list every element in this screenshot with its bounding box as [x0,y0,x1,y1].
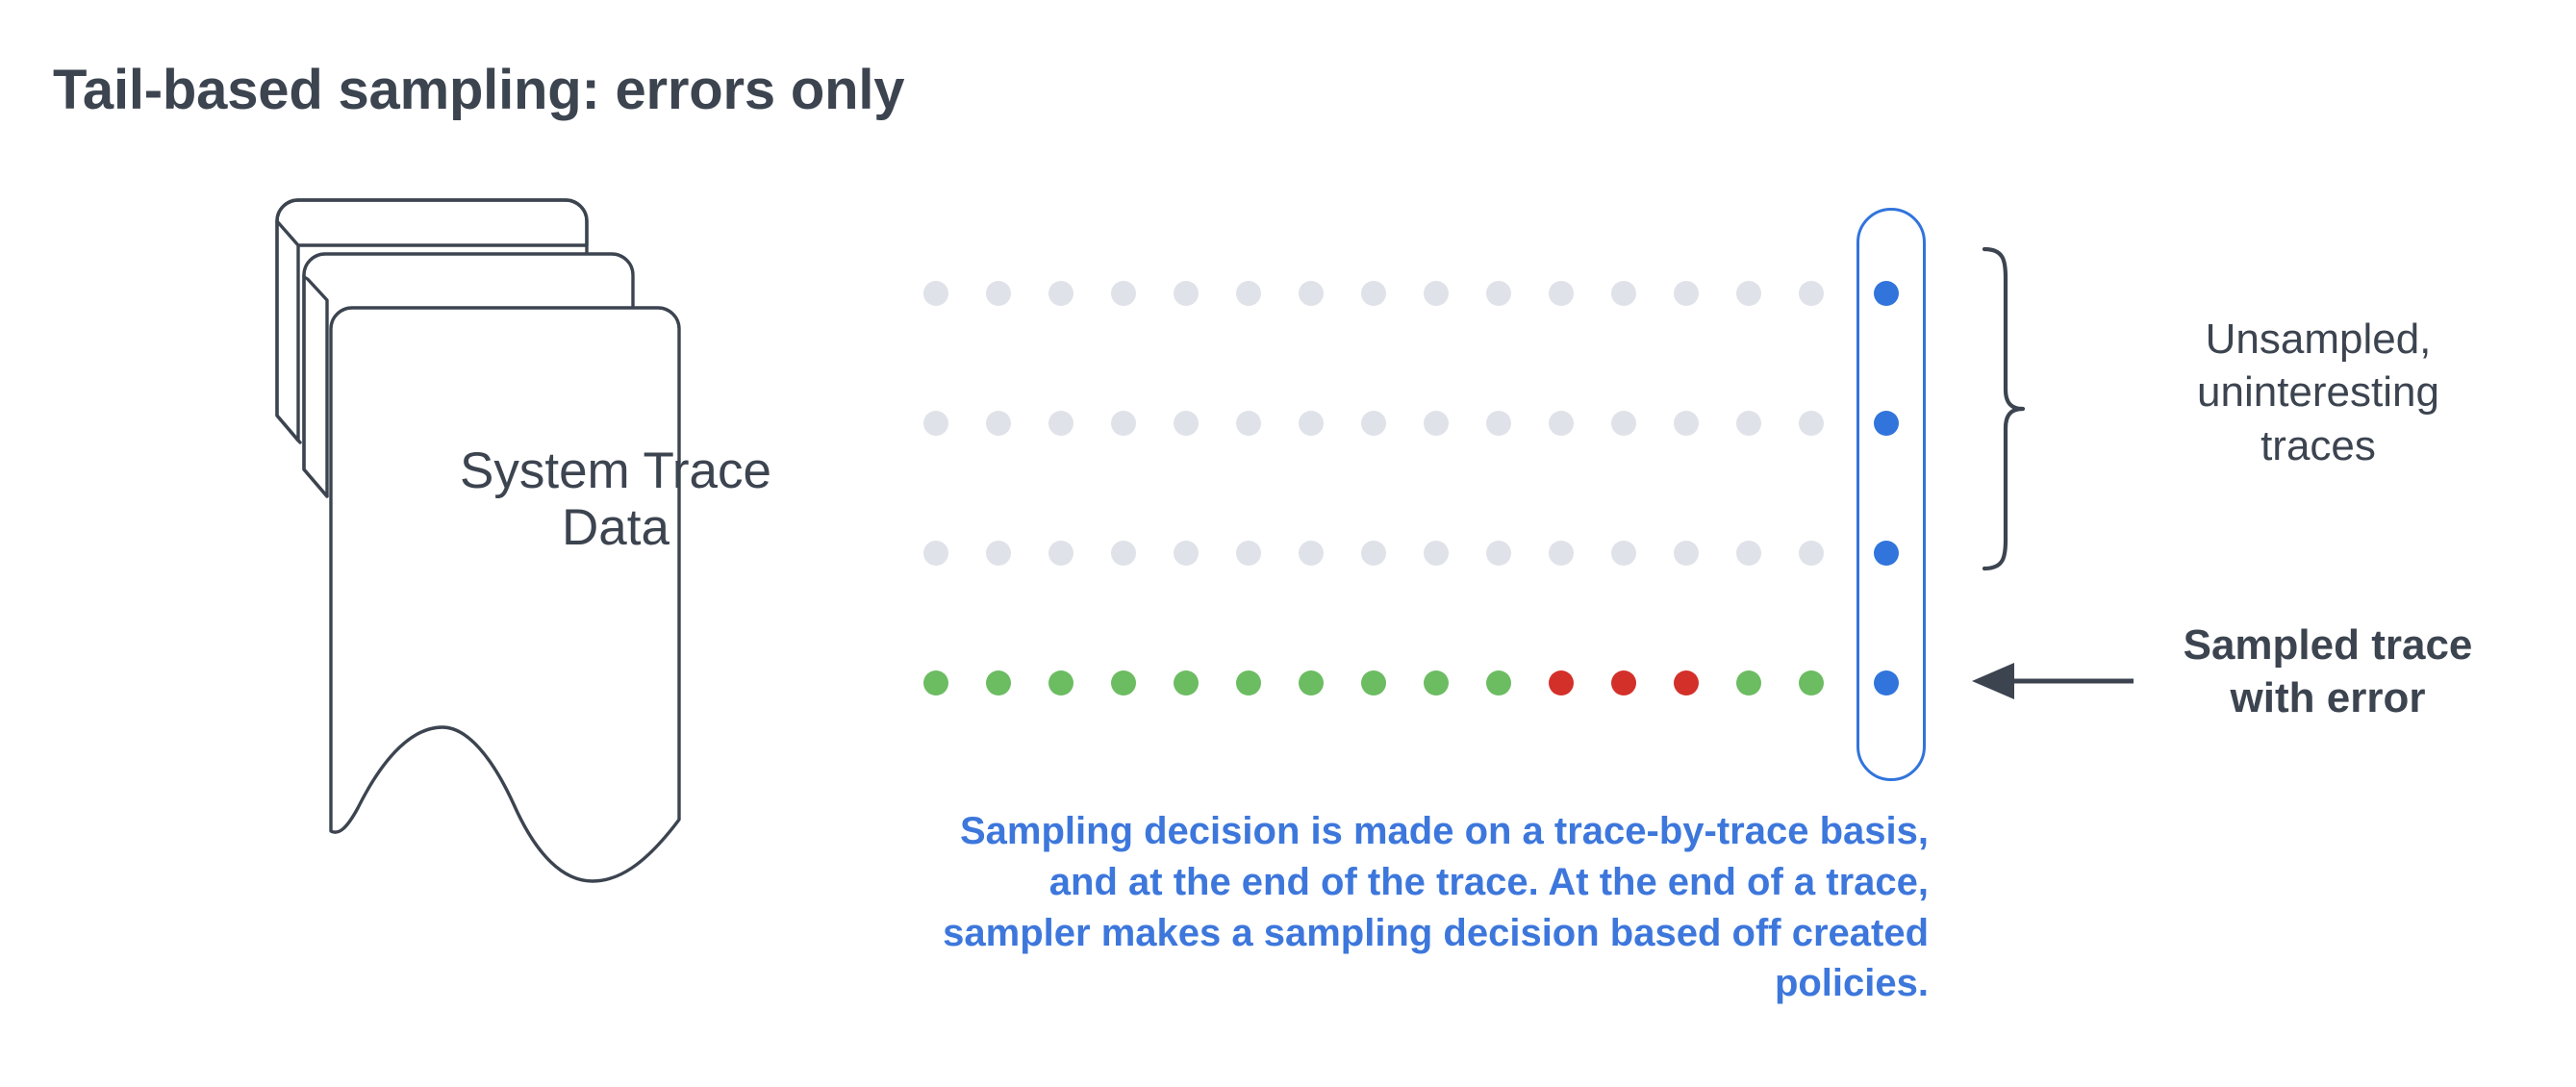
span-dot-idle [1799,541,1824,566]
sampled-arrow-group [1968,659,2141,703]
span-dot-idle [1361,281,1386,306]
span-dot-idle [1486,411,1511,436]
span-dot-idle [1549,281,1574,306]
unsampled-traces-label: Unsampled, uninteresting traces [2155,313,2482,472]
span-dot-idle [986,541,1011,566]
span-dot-idle [1361,411,1386,436]
span-dot-idle [1174,411,1199,436]
span-dot-idle [1611,411,1636,436]
span-dot-error [1674,670,1699,695]
span-dot-idle [1674,281,1699,306]
trace-row-4-error [923,670,1899,695]
left-arrow-icon [1968,659,2141,703]
trace-row-1 [923,281,1899,306]
trace-row-3 [923,541,1899,566]
span-dot-idle [1549,411,1574,436]
page-title: Tail-based sampling: errors only [53,58,904,122]
span-dot-ok [1048,670,1073,695]
span-dot-idle [1048,541,1073,566]
span-dot-idle [923,541,948,566]
span-dot-ok [1299,670,1324,695]
span-dot-idle [1361,541,1386,566]
span-dot-idle [1611,281,1636,306]
unsampled-brace-group [1977,245,2034,572]
diagram-canvas: Tail-based sampling: errors only System … [0,0,2576,1087]
span-dot-idle [1674,541,1699,566]
span-dot-idle [1799,411,1824,436]
span-dot-ok [1361,670,1386,695]
span-dot-ok [1111,670,1136,695]
sampling-decision-boundary [1856,208,1926,781]
span-dot-ok [1424,670,1449,695]
system-trace-data-label: System Trace Data [346,442,885,557]
span-dot-ok [1486,670,1511,695]
document-sheet-front [331,308,679,881]
sampling-decision-caption: Sampling decision is made on a trace-by-… [923,806,1929,1009]
document-sheet-middle-edge [304,275,327,496]
span-dot-idle [1174,281,1199,306]
span-dot-idle [1111,411,1136,436]
span-dot-idle [986,281,1011,306]
trace-span-matrix [923,260,1943,721]
span-dot-ok [1736,670,1761,695]
span-dot-idle [1174,541,1199,566]
span-dot-ok [986,670,1011,695]
span-dot-idle [1549,541,1574,566]
span-dot-idle [1048,281,1073,306]
span-dot-idle [1424,411,1449,436]
span-dot-idle [1424,541,1449,566]
span-dot-idle [1236,411,1261,436]
span-dot-idle [1736,411,1761,436]
span-dot-idle [1799,281,1824,306]
span-dot-idle [1111,281,1136,306]
span-dot-idle [1486,281,1511,306]
system-trace-data-stack: System Trace Data [279,192,933,904]
span-dot-idle [1424,281,1449,306]
span-dot-idle [1736,281,1761,306]
span-dot-idle [1299,281,1324,306]
span-dot-idle [923,281,948,306]
span-dot-idle [1111,541,1136,566]
span-dot-idle [1299,411,1324,436]
span-dot-idle [1674,411,1699,436]
span-dot-error [1611,670,1636,695]
curly-brace-icon [1977,245,2034,572]
span-dot-ok [1799,670,1824,695]
span-dot-ok [923,670,948,695]
span-dot-ok [1174,670,1199,695]
trace-row-2 [923,411,1899,436]
span-dot-idle [1236,541,1261,566]
span-dot-idle [1236,281,1261,306]
span-dot-idle [1736,541,1761,566]
span-dot-idle [1048,411,1073,436]
span-dot-idle [923,411,948,436]
span-dot-ok [1236,670,1261,695]
span-dot-error [1549,670,1574,695]
span-dot-idle [1299,541,1324,566]
span-dot-idle [1486,541,1511,566]
sampled-trace-label: Sampled trace with error [2155,619,2501,725]
span-dot-idle [1611,541,1636,566]
span-dot-idle [986,411,1011,436]
